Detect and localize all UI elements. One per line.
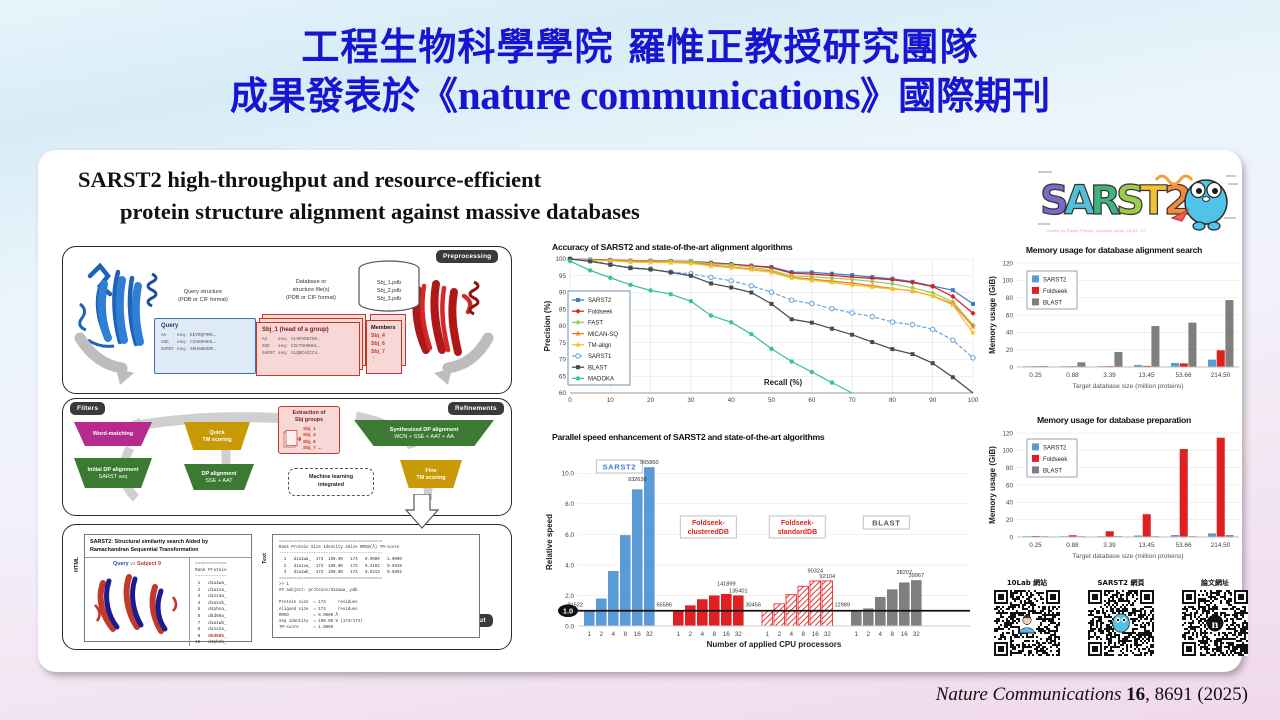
svg-text:10: 10 bbox=[607, 397, 615, 404]
workflow-diagram: Preprocessing bbox=[56, 242, 518, 660]
svg-text:60: 60 bbox=[1006, 482, 1014, 489]
svg-text:80: 80 bbox=[1006, 465, 1014, 472]
svg-text:MICAN-SQ: MICAN-SQ bbox=[588, 332, 618, 338]
subject-group-card: Sbj_1 (head of a group) AA seq: VLSPADKT… bbox=[256, 322, 360, 376]
svg-text:2: 2 bbox=[778, 631, 782, 638]
svg-text:1: 1 bbox=[855, 631, 859, 638]
svg-text:SARST2: SARST2 bbox=[1043, 277, 1067, 283]
svg-text:100: 100 bbox=[968, 397, 978, 404]
svg-text:70: 70 bbox=[849, 397, 857, 404]
qr-code-row: 10Lab 網站 SARST2 網頁 論文網址 n bbox=[986, 578, 1256, 668]
memory-alignment-search-chart: Memory usage for database alignment sear… bbox=[983, 245, 1245, 405]
qr-caption-sarst2: SARST2 網頁 bbox=[1080, 578, 1162, 588]
svg-text:Precision (%): Precision (%) bbox=[543, 300, 552, 351]
svg-text:0.88: 0.88 bbox=[1066, 372, 1079, 379]
machine-learning-integrated-box: Machine learningintegrated bbox=[288, 468, 374, 496]
svg-text:100: 100 bbox=[1002, 448, 1013, 455]
svg-text:16: 16 bbox=[634, 631, 642, 638]
output-text-label: Text bbox=[262, 553, 268, 564]
qr-item-10lab[interactable]: 10Lab 網站 bbox=[986, 578, 1068, 668]
svg-text:30456: 30456 bbox=[745, 603, 761, 609]
svg-text:20: 20 bbox=[1006, 347, 1014, 354]
svg-text:BLAST: BLAST bbox=[588, 365, 607, 371]
svg-text:85: 85 bbox=[559, 306, 567, 313]
refine-step-fine-tm-scoring: FineTM scoring bbox=[400, 460, 462, 488]
svg-text:4: 4 bbox=[612, 631, 616, 638]
html-output-panel: SARST2: Structural similarity search Aid… bbox=[84, 534, 252, 642]
qr-code-sarst2-image[interactable] bbox=[1088, 590, 1154, 656]
svg-text:SARST2: SARST2 bbox=[588, 298, 612, 304]
workflow-arrow-to-output bbox=[396, 494, 456, 534]
svg-text:13.45: 13.45 bbox=[1139, 372, 1155, 379]
svg-text:TM-align: TM-align bbox=[588, 343, 611, 349]
svg-text:6.0: 6.0 bbox=[565, 532, 574, 539]
svg-text:92104: 92104 bbox=[820, 574, 836, 580]
citation-rest: , 8691 (2025) bbox=[1145, 684, 1248, 705]
svg-text:4: 4 bbox=[790, 631, 794, 638]
svg-text:Foldseek: Foldseek bbox=[1043, 457, 1068, 463]
superposed-structure-image bbox=[85, 565, 187, 637]
svg-text:Foldseek-: Foldseek- bbox=[781, 520, 814, 527]
svg-text:40: 40 bbox=[728, 397, 736, 404]
svg-text:Memory usage (GiB): Memory usage (GiB) bbox=[988, 446, 997, 524]
svg-text:n: n bbox=[1212, 617, 1219, 631]
svg-text:32: 32 bbox=[646, 631, 654, 638]
svg-text:65586: 65586 bbox=[656, 603, 672, 609]
citation-volume: 16 bbox=[1126, 684, 1145, 705]
svg-text:Relative speed: Relative speed bbox=[545, 514, 554, 570]
svg-text:2: 2 bbox=[689, 631, 693, 638]
qr-code-10lab-image[interactable] bbox=[994, 590, 1060, 656]
svg-text:40: 40 bbox=[1006, 500, 1014, 507]
svg-text:Recall (%): Recall (%) bbox=[764, 378, 803, 387]
svg-text:4: 4 bbox=[701, 631, 705, 638]
svg-text:80: 80 bbox=[559, 323, 567, 330]
svg-text:2.0: 2.0 bbox=[565, 593, 574, 600]
accuracy-chart: Accuracy of SARST2 and state-of-the-art … bbox=[538, 242, 978, 427]
svg-text:SARST2: SARST2 bbox=[603, 463, 637, 472]
svg-text:Foldseek: Foldseek bbox=[588, 309, 613, 315]
svg-text:932638: 932638 bbox=[628, 477, 647, 483]
sarst2-logo: S A R S T 2 bbox=[1038, 158, 1238, 236]
header-line-1: 工程生物科學學院 羅惟正教授研究團隊 bbox=[0, 26, 1280, 70]
svg-text:Sbj_2.pdb: Sbj_2.pdb bbox=[377, 288, 401, 294]
svg-text:0: 0 bbox=[1009, 364, 1013, 371]
svg-text:32: 32 bbox=[824, 631, 832, 638]
svg-text:4: 4 bbox=[879, 631, 883, 638]
logo-credit: Gopher by Renee French. Licensed under C… bbox=[1046, 228, 1145, 233]
svg-text:65: 65 bbox=[559, 373, 567, 380]
poster-card: SARST2 high-throughput and resource-effi… bbox=[38, 150, 1242, 672]
svg-text:8.0: 8.0 bbox=[565, 501, 574, 508]
svg-text:90: 90 bbox=[929, 397, 937, 404]
poster-title: SARST2 high-throughput and resource-effi… bbox=[78, 164, 1008, 228]
svg-text:MADOKA: MADOKA bbox=[588, 377, 614, 383]
qr-item-sarst2[interactable]: SARST2 網頁 bbox=[1080, 578, 1162, 668]
svg-text:8: 8 bbox=[891, 631, 895, 638]
svg-text:80: 80 bbox=[889, 397, 897, 404]
svg-text:90: 90 bbox=[559, 290, 567, 297]
svg-text:12989: 12989 bbox=[834, 603, 850, 609]
svg-text:8: 8 bbox=[802, 631, 806, 638]
svg-text:214.50: 214.50 bbox=[1211, 542, 1231, 549]
database-cylinder-icon: Sbj_1.pdb Sbj_2.pdb Sbj_3.pdb ⋮ bbox=[356, 260, 422, 314]
svg-text:1: 1 bbox=[677, 631, 681, 638]
accuracy-chart-title: Accuracy of SARST2 and state-of-the-art … bbox=[552, 242, 978, 252]
output-html-label: HTML bbox=[74, 557, 80, 572]
svg-text:FAST: FAST bbox=[588, 321, 603, 327]
svg-text:⋮: ⋮ bbox=[387, 304, 392, 310]
svg-text:10.0: 10.0 bbox=[562, 471, 575, 478]
svg-text:60: 60 bbox=[559, 390, 567, 397]
svg-text:30: 30 bbox=[687, 397, 695, 404]
svg-text:Foldseek: Foldseek bbox=[1043, 289, 1068, 295]
svg-text:8: 8 bbox=[624, 631, 628, 638]
html-output-title: SARST2: Structural similarity search Aid… bbox=[85, 535, 251, 558]
stage-preprocessing-tag: Preprocessing bbox=[436, 250, 498, 263]
memory-alignment-search-title: Memory usage for database alignment sear… bbox=[983, 245, 1245, 255]
filter-step-word-matching: Word-matching bbox=[74, 422, 152, 446]
svg-text:Target database size (million: Target database size (million proteins) bbox=[1072, 553, 1183, 560]
svg-text:80: 80 bbox=[1006, 295, 1014, 302]
citation-journal: Nature Communications bbox=[936, 684, 1122, 705]
journal-name-nature-communications: nature communications bbox=[458, 72, 860, 118]
svg-text:3.39: 3.39 bbox=[1103, 372, 1116, 379]
svg-text:214.50: 214.50 bbox=[1211, 372, 1231, 379]
svg-text:39967: 39967 bbox=[909, 573, 925, 579]
header-line2-prefix: 成果發表於《 bbox=[230, 74, 458, 118]
svg-text:0.25: 0.25 bbox=[1029, 542, 1042, 549]
svg-text:Target database size (million: Target database size (million proteins) bbox=[1072, 383, 1183, 390]
svg-text:120: 120 bbox=[1002, 430, 1013, 437]
extraction-of-sbj-groups: Extraction ofSbj groups Sbj_1Sbj_4Sbj_6S… bbox=[278, 406, 340, 454]
svg-text:32: 32 bbox=[735, 631, 743, 638]
svg-text:2: 2 bbox=[867, 631, 871, 638]
parallel-speed-chart-title: Parallel speed enhancement of SARST2 and… bbox=[552, 432, 978, 442]
svg-text:Sbj_1.pdb: Sbj_1.pdb bbox=[377, 280, 401, 286]
svg-text:SARST1: SARST1 bbox=[588, 354, 612, 360]
svg-text:0: 0 bbox=[568, 397, 572, 404]
svg-text:16: 16 bbox=[901, 631, 909, 638]
stage-filters-tag: Filters bbox=[70, 402, 105, 415]
svg-text:4.0: 4.0 bbox=[565, 562, 574, 569]
svg-text:32: 32 bbox=[913, 631, 921, 638]
page-header: 工程生物科學學院 羅惟正教授研究團隊 成果發表於《nature communic… bbox=[0, 0, 1280, 121]
qr-caption-paper: 論文網址 bbox=[1174, 578, 1256, 588]
poster-title-line-1: SARST2 high-throughput and resource-effi… bbox=[78, 167, 541, 192]
svg-text:135401: 135401 bbox=[729, 588, 748, 594]
members-card: Members Sbj_4Sbj_6Sbj_7⋮ bbox=[366, 320, 402, 374]
svg-text:BLAST: BLAST bbox=[1043, 300, 1062, 306]
svg-text:141899: 141899 bbox=[717, 581, 736, 587]
citation-footer: Nature Communications 16, 8691 (2025) bbox=[936, 684, 1248, 706]
svg-text:95: 95 bbox=[559, 273, 567, 280]
svg-text:13.45: 13.45 bbox=[1139, 542, 1155, 549]
svg-text:60: 60 bbox=[808, 397, 816, 404]
svg-text:Number of applied CPU processo: Number of applied CPU processors bbox=[707, 640, 842, 649]
database-label: Database orstructure file(s)(PDB or CIF … bbox=[268, 278, 354, 302]
svg-text:16: 16 bbox=[723, 631, 731, 638]
text-output-content: ========================================… bbox=[279, 539, 473, 638]
filter-step-dp-alignment: DP alignmentSSE + AAT bbox=[184, 464, 254, 490]
svg-text:Foldseek-: Foldseek- bbox=[692, 520, 725, 527]
memory-preparation-title: Memory usage for database preparation bbox=[983, 415, 1245, 425]
svg-text:BLAST: BLAST bbox=[1043, 468, 1062, 474]
svg-text:8: 8 bbox=[713, 631, 717, 638]
header-line-2: 成果發表於《nature communications》國際期刊 bbox=[0, 70, 1280, 121]
filter-step-initial-dp-alignment: Initial DP alignmentSARST seq bbox=[74, 458, 152, 488]
svg-text:53.66: 53.66 bbox=[1176, 372, 1192, 379]
poster-title-line-2: protein structure alignment against mass… bbox=[78, 196, 1008, 228]
memory-preparation-chart: Memory usage for database preparation 02… bbox=[983, 415, 1245, 573]
header-line2-suffix: 》國際期刊 bbox=[860, 74, 1050, 118]
svg-text:965860: 965860 bbox=[640, 460, 659, 466]
svg-text:16: 16 bbox=[812, 631, 820, 638]
svg-text:100: 100 bbox=[555, 256, 566, 263]
qr-item-paper[interactable]: 論文網址 n bbox=[1174, 578, 1256, 668]
svg-text:0.0: 0.0 bbox=[565, 623, 574, 630]
svg-text:0.88: 0.88 bbox=[1066, 542, 1079, 549]
stage-refinements-tag: Refinements bbox=[448, 402, 504, 415]
parallel-speed-chart: Parallel speed enhancement of SARST2 and… bbox=[538, 432, 978, 664]
svg-text:SARST2: SARST2 bbox=[1043, 445, 1067, 451]
svg-text:50: 50 bbox=[768, 397, 776, 404]
svg-text:2: 2 bbox=[600, 631, 604, 638]
svg-text:120: 120 bbox=[1002, 260, 1013, 267]
svg-text:0.25: 0.25 bbox=[1029, 372, 1042, 379]
svg-text:Sbj_3.pdb: Sbj_3.pdb bbox=[377, 296, 401, 302]
filter-step-quick-tm-scoring: QuickTM scoring bbox=[184, 422, 250, 450]
svg-text:1: 1 bbox=[766, 631, 770, 638]
svg-text:20: 20 bbox=[1006, 517, 1014, 524]
svg-text:40: 40 bbox=[1006, 330, 1014, 337]
svg-text:20: 20 bbox=[647, 397, 655, 404]
svg-text:0: 0 bbox=[1009, 534, 1013, 541]
qr-caption-10lab: 10Lab 網站 bbox=[986, 578, 1068, 588]
svg-text:1: 1 bbox=[588, 631, 592, 638]
svg-text:53.66: 53.66 bbox=[1176, 542, 1192, 549]
refine-step-synthesized-dp-alignment: Synthesized DP alignmentWCN + SSE + AAT … bbox=[354, 420, 494, 446]
svg-text:60: 60 bbox=[1006, 312, 1014, 319]
svg-text:clusteredDB: clusteredDB bbox=[688, 529, 729, 536]
svg-text:standardDB: standardDB bbox=[777, 529, 817, 536]
svg-text:BLAST: BLAST bbox=[872, 519, 900, 528]
svg-text:75: 75 bbox=[559, 340, 567, 347]
svg-text:3.39: 3.39 bbox=[1103, 542, 1116, 549]
query-structure-label: Query structure(PDB or CIF format) bbox=[162, 288, 244, 304]
svg-text:70: 70 bbox=[559, 357, 567, 364]
query-sequence-card: Query AA seq: EEVRQFRRL… SSE seq: CCHHHH… bbox=[154, 318, 256, 374]
text-output-panel: ========================================… bbox=[272, 534, 480, 638]
svg-text:Memory usage (GiB): Memory usage (GiB) bbox=[988, 276, 997, 354]
qr-code-paper-image[interactable]: n bbox=[1182, 590, 1248, 656]
svg-text:1.0: 1.0 bbox=[563, 607, 573, 616]
svg-text:100: 100 bbox=[1002, 278, 1013, 285]
